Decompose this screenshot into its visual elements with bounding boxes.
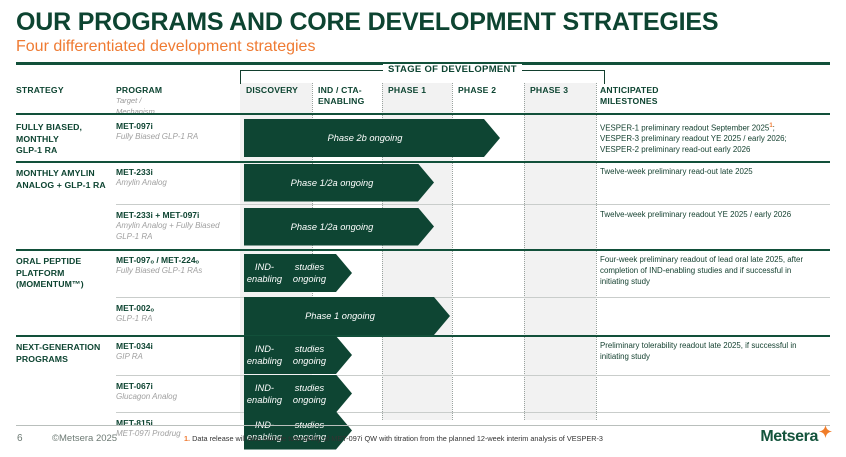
program-name: MET-097i [116, 121, 238, 132]
program-name: MET-002ₒ [116, 303, 238, 314]
column-header-milestones: ANTICIPATED MILESTONES [600, 85, 659, 107]
page-number: 6 [17, 433, 23, 444]
program-name: MET-233i [116, 167, 238, 178]
program-mechanism: Glucagon Analog [116, 392, 242, 403]
stage-bar: Phase 1/2a ongoing [244, 164, 434, 202]
footnote-text: Data release will also include tolerabil… [192, 434, 603, 443]
program-mechanism: Amylin Analog + Fully Biased GLP-1 RA [116, 221, 242, 242]
group-divider [16, 249, 830, 251]
program-name: MET-097ₒ / MET-224ₒ [116, 255, 238, 266]
stage-bar: Phase 2b ongoing [244, 119, 500, 157]
group-divider [16, 161, 830, 163]
strategy-label: ORAL PEPTIDE PLATFORM (MOMENTUM™) [16, 256, 114, 291]
header-divider [16, 113, 830, 115]
program-name: MET-067i [116, 381, 238, 392]
stage-header-discovery: DISCOVERY [246, 85, 298, 96]
anticipated-milestone: VESPER-1 preliminary readout September 2… [600, 121, 832, 156]
row-divider [116, 375, 830, 376]
stage-of-development-label: STAGE OF DEVELOPMENT [383, 64, 522, 75]
stage-bar: Phase 1/2a ongoing [244, 208, 434, 246]
footer-divider [16, 425, 830, 426]
stage-bar: Phase 1 ongoing [244, 297, 450, 335]
page-title: OUR PROGRAMS AND CORE DEVELOPMENT STRATE… [16, 8, 718, 37]
program-name: MET-034i [116, 341, 238, 352]
row-divider [116, 204, 830, 205]
stage-band-phase-3 [524, 83, 596, 420]
copyright: ©Metsera 2025 [52, 433, 117, 444]
stage-header-ind-cta-enabling: IND / CTA- ENABLING [318, 85, 364, 107]
metsera-logo: Metsera [760, 428, 832, 446]
sparkle-icon [819, 425, 832, 443]
column-divider [524, 83, 525, 420]
column-header-strategy: STRATEGY [16, 85, 64, 95]
page-subtitle: Four differentiated development strategi… [16, 38, 315, 56]
anticipated-milestone: Twelve-week preliminary readout YE 2025 … [600, 210, 832, 221]
anticipated-milestone: Twelve-week preliminary read-out late 20… [600, 167, 832, 178]
slide: OUR PROGRAMS AND CORE DEVELOPMENT STRATE… [0, 0, 846, 457]
stage-bar: IND-enablingstudies ongoing [244, 336, 352, 374]
stage-bar: IND-enablingstudies ongoing [244, 254, 352, 292]
row-divider [116, 412, 830, 413]
strategy-label: NEXT-GENERATION PROGRAMS [16, 342, 114, 365]
program-mechanism: Fully Biased GLP-1 RAs [116, 266, 242, 277]
footnote: 1. Data release will also include tolera… [184, 434, 603, 443]
anticipated-milestone: Four-week preliminary readout of lead or… [600, 255, 832, 287]
footnote-marker: 1. [184, 434, 190, 443]
column-header-program: PROGRAM [116, 85, 162, 95]
anticipated-milestone: Preliminary tolerability readout late 20… [600, 341, 832, 363]
program-mechanism: GIP RA [116, 352, 242, 363]
logo-wordmark: Metsera [760, 428, 818, 446]
stage-header-phase-2: PHASE 2 [458, 85, 496, 96]
stage-header-phase-1: PHASE 1 [388, 85, 426, 96]
group-divider [16, 335, 830, 337]
program-name: MET-233i + MET-097i [116, 210, 238, 221]
row-divider [116, 297, 830, 298]
program-mechanism: Fully Biased GLP-1 RA [116, 132, 242, 143]
strategy-label: MONTHLY AMYLIN ANALOG + GLP-1 RA [16, 168, 114, 191]
program-mechanism: GLP-1 RA [116, 314, 242, 325]
column-divider [596, 83, 597, 420]
program-name: MET-815i [116, 418, 238, 429]
stage-bar: IND-enablingstudies ongoing [244, 412, 352, 450]
stage-bar: IND-enablingstudies ongoing [244, 375, 352, 413]
program-mechanism: Amylin Analog [116, 178, 242, 189]
strategy-label: FULLY BIASED, MONTHLY GLP-1 RA [16, 122, 114, 157]
stage-header-phase-3: PHASE 3 [530, 85, 568, 96]
